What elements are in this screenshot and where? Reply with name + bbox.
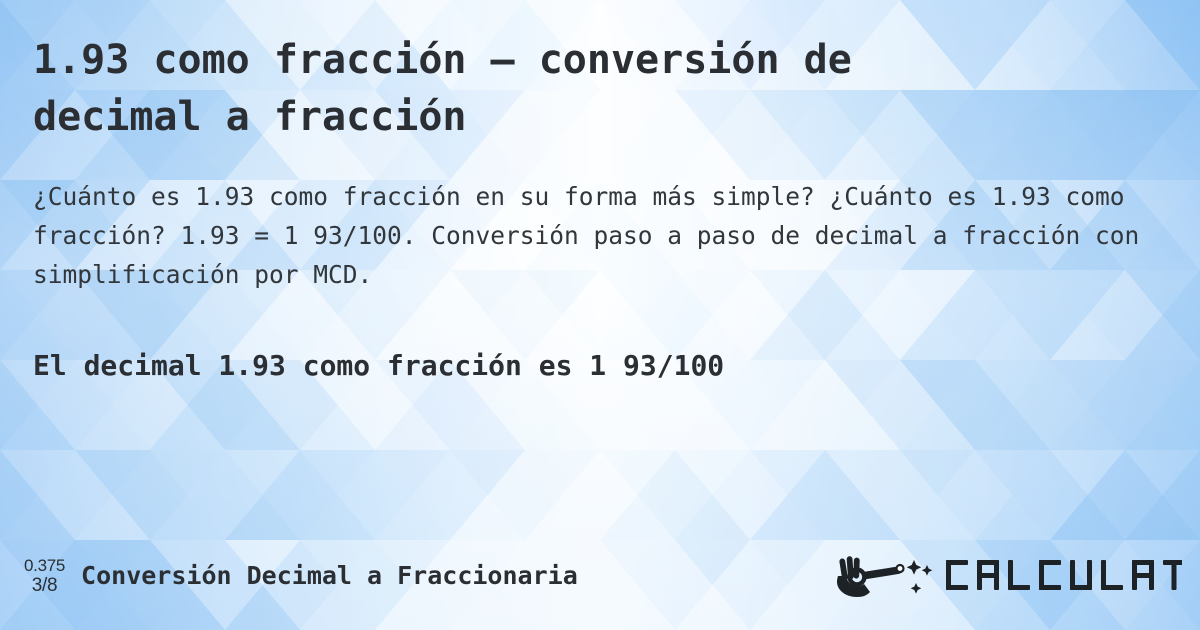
footer: 0.375 3/8 Conversión Decimal a Fracciona… [0,545,1200,605]
page-title-line-2: decimal a fracción [33,94,466,140]
calculatio-logo[interactable] [830,545,1182,605]
footer-section-title: Conversión Decimal a Fraccionaria [81,561,578,590]
og-image-card: 1.93 como fracción – conversión de decim… [0,0,1200,630]
page-description: ¿Cuánto es 1.93 como fracción en su form… [33,177,1153,294]
fraction-logo-fraction: 3/8 [24,576,65,595]
page-title-line-1: 1.93 como fracción – conversión de [33,37,852,83]
footer-brand-group: 0.375 3/8 Conversión Decimal a Fracciona… [24,545,578,605]
page-title: 1.93 como fracción – conversión de decim… [33,32,1093,146]
fraction-logo-decimal: 0.375 [24,557,65,574]
hand-magic-wand-icon [837,556,932,597]
answer-statement: El decimal 1.93 como fracción es 1 93/10… [33,347,724,385]
calculatio-wordmark [946,560,1182,590]
fraction-logo-icon: 0.375 3/8 [24,555,65,595]
